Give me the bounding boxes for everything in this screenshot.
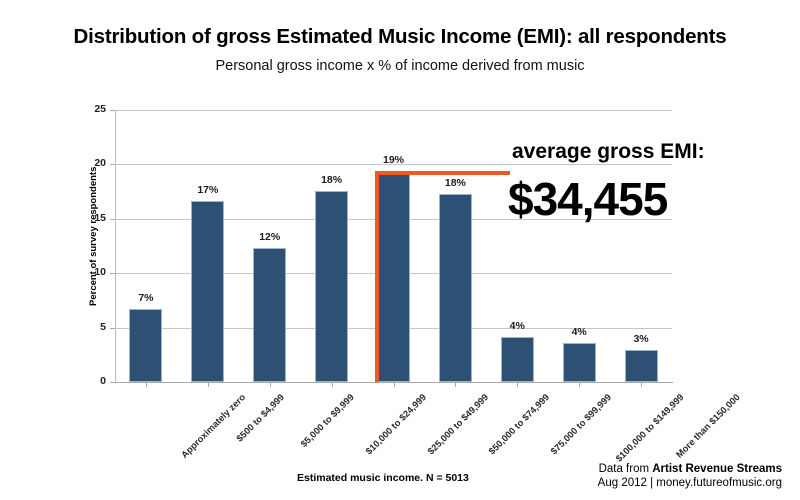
y-tick-label: 25 xyxy=(76,103,106,115)
y-tick-label: 0 xyxy=(76,375,106,387)
average-marker-vertical-line xyxy=(375,171,379,382)
x-tick-mark xyxy=(394,382,395,387)
source-meta: Aug 2012 | money.futureofmusic.org xyxy=(442,476,782,490)
bar-value-label: 3% xyxy=(611,333,671,345)
y-tick-label: 10 xyxy=(76,266,106,278)
bar-value-label: 17% xyxy=(178,184,238,196)
x-category-label: More than $150,000 xyxy=(674,392,742,460)
x-tick-mark xyxy=(455,382,456,387)
gridline xyxy=(115,110,672,111)
average-emi-caption: average gross EMI: xyxy=(512,140,705,164)
bar-value-label: 18% xyxy=(425,177,485,189)
bar xyxy=(563,343,596,382)
average-emi-value: $34,455 xyxy=(508,172,667,226)
x-tick-mark xyxy=(208,382,209,387)
source-prefix: Data from xyxy=(599,463,653,475)
x-tick-mark xyxy=(146,382,147,387)
bar xyxy=(377,171,410,382)
bar-value-label: 4% xyxy=(487,320,547,332)
x-tick-mark xyxy=(641,382,642,387)
y-tick-mark xyxy=(110,328,115,329)
x-tick-mark xyxy=(270,382,271,387)
bar xyxy=(501,337,534,382)
x-tick-mark xyxy=(332,382,333,387)
bar-value-label: 4% xyxy=(549,326,609,338)
y-tick-mark xyxy=(110,382,115,383)
bar-value-label: 19% xyxy=(364,154,424,166)
bar xyxy=(315,191,348,382)
bar xyxy=(191,201,224,382)
x-tick-mark xyxy=(579,382,580,387)
x-category-label: $75,000 to $99,999 xyxy=(549,392,613,456)
y-tick-label: 20 xyxy=(76,157,106,169)
bar xyxy=(253,248,286,382)
y-tick-mark xyxy=(110,273,115,274)
bar xyxy=(129,309,162,382)
x-category-label: $50,000 to $74,999 xyxy=(487,392,551,456)
bar-value-label: 18% xyxy=(302,174,362,186)
y-tick-mark xyxy=(110,164,115,165)
chart-subtitle: Personal gross income x % of income deri… xyxy=(0,58,800,74)
chart-canvas: Distribution of gross Estimated Music In… xyxy=(0,0,800,500)
bar xyxy=(625,350,658,382)
bar xyxy=(439,194,472,382)
bar-value-label: 7% xyxy=(116,292,176,304)
bar-value-label: 12% xyxy=(240,231,300,243)
y-tick-mark xyxy=(110,110,115,111)
x-category-label: Approximately zero xyxy=(179,392,247,460)
x-category-label: $25,000 to $49,999 xyxy=(425,392,489,456)
source-credit: Data from Artist Revenue Streams Aug 201… xyxy=(442,462,782,490)
x-tick-mark xyxy=(517,382,518,387)
y-tick-label: 15 xyxy=(76,212,106,224)
y-tick-mark xyxy=(110,219,115,220)
average-marker-horizontal-line xyxy=(375,171,510,175)
source-name: Artist Revenue Streams xyxy=(652,463,782,475)
y-axis-title: Percent of survey respondents xyxy=(88,167,99,306)
x-category-label: $10,000 to $24,999 xyxy=(363,392,427,456)
y-tick-label: 5 xyxy=(76,321,106,333)
chart-title: Distribution of gross Estimated Music In… xyxy=(0,25,800,49)
x-category-label: $5,000 to $9,999 xyxy=(298,392,355,449)
